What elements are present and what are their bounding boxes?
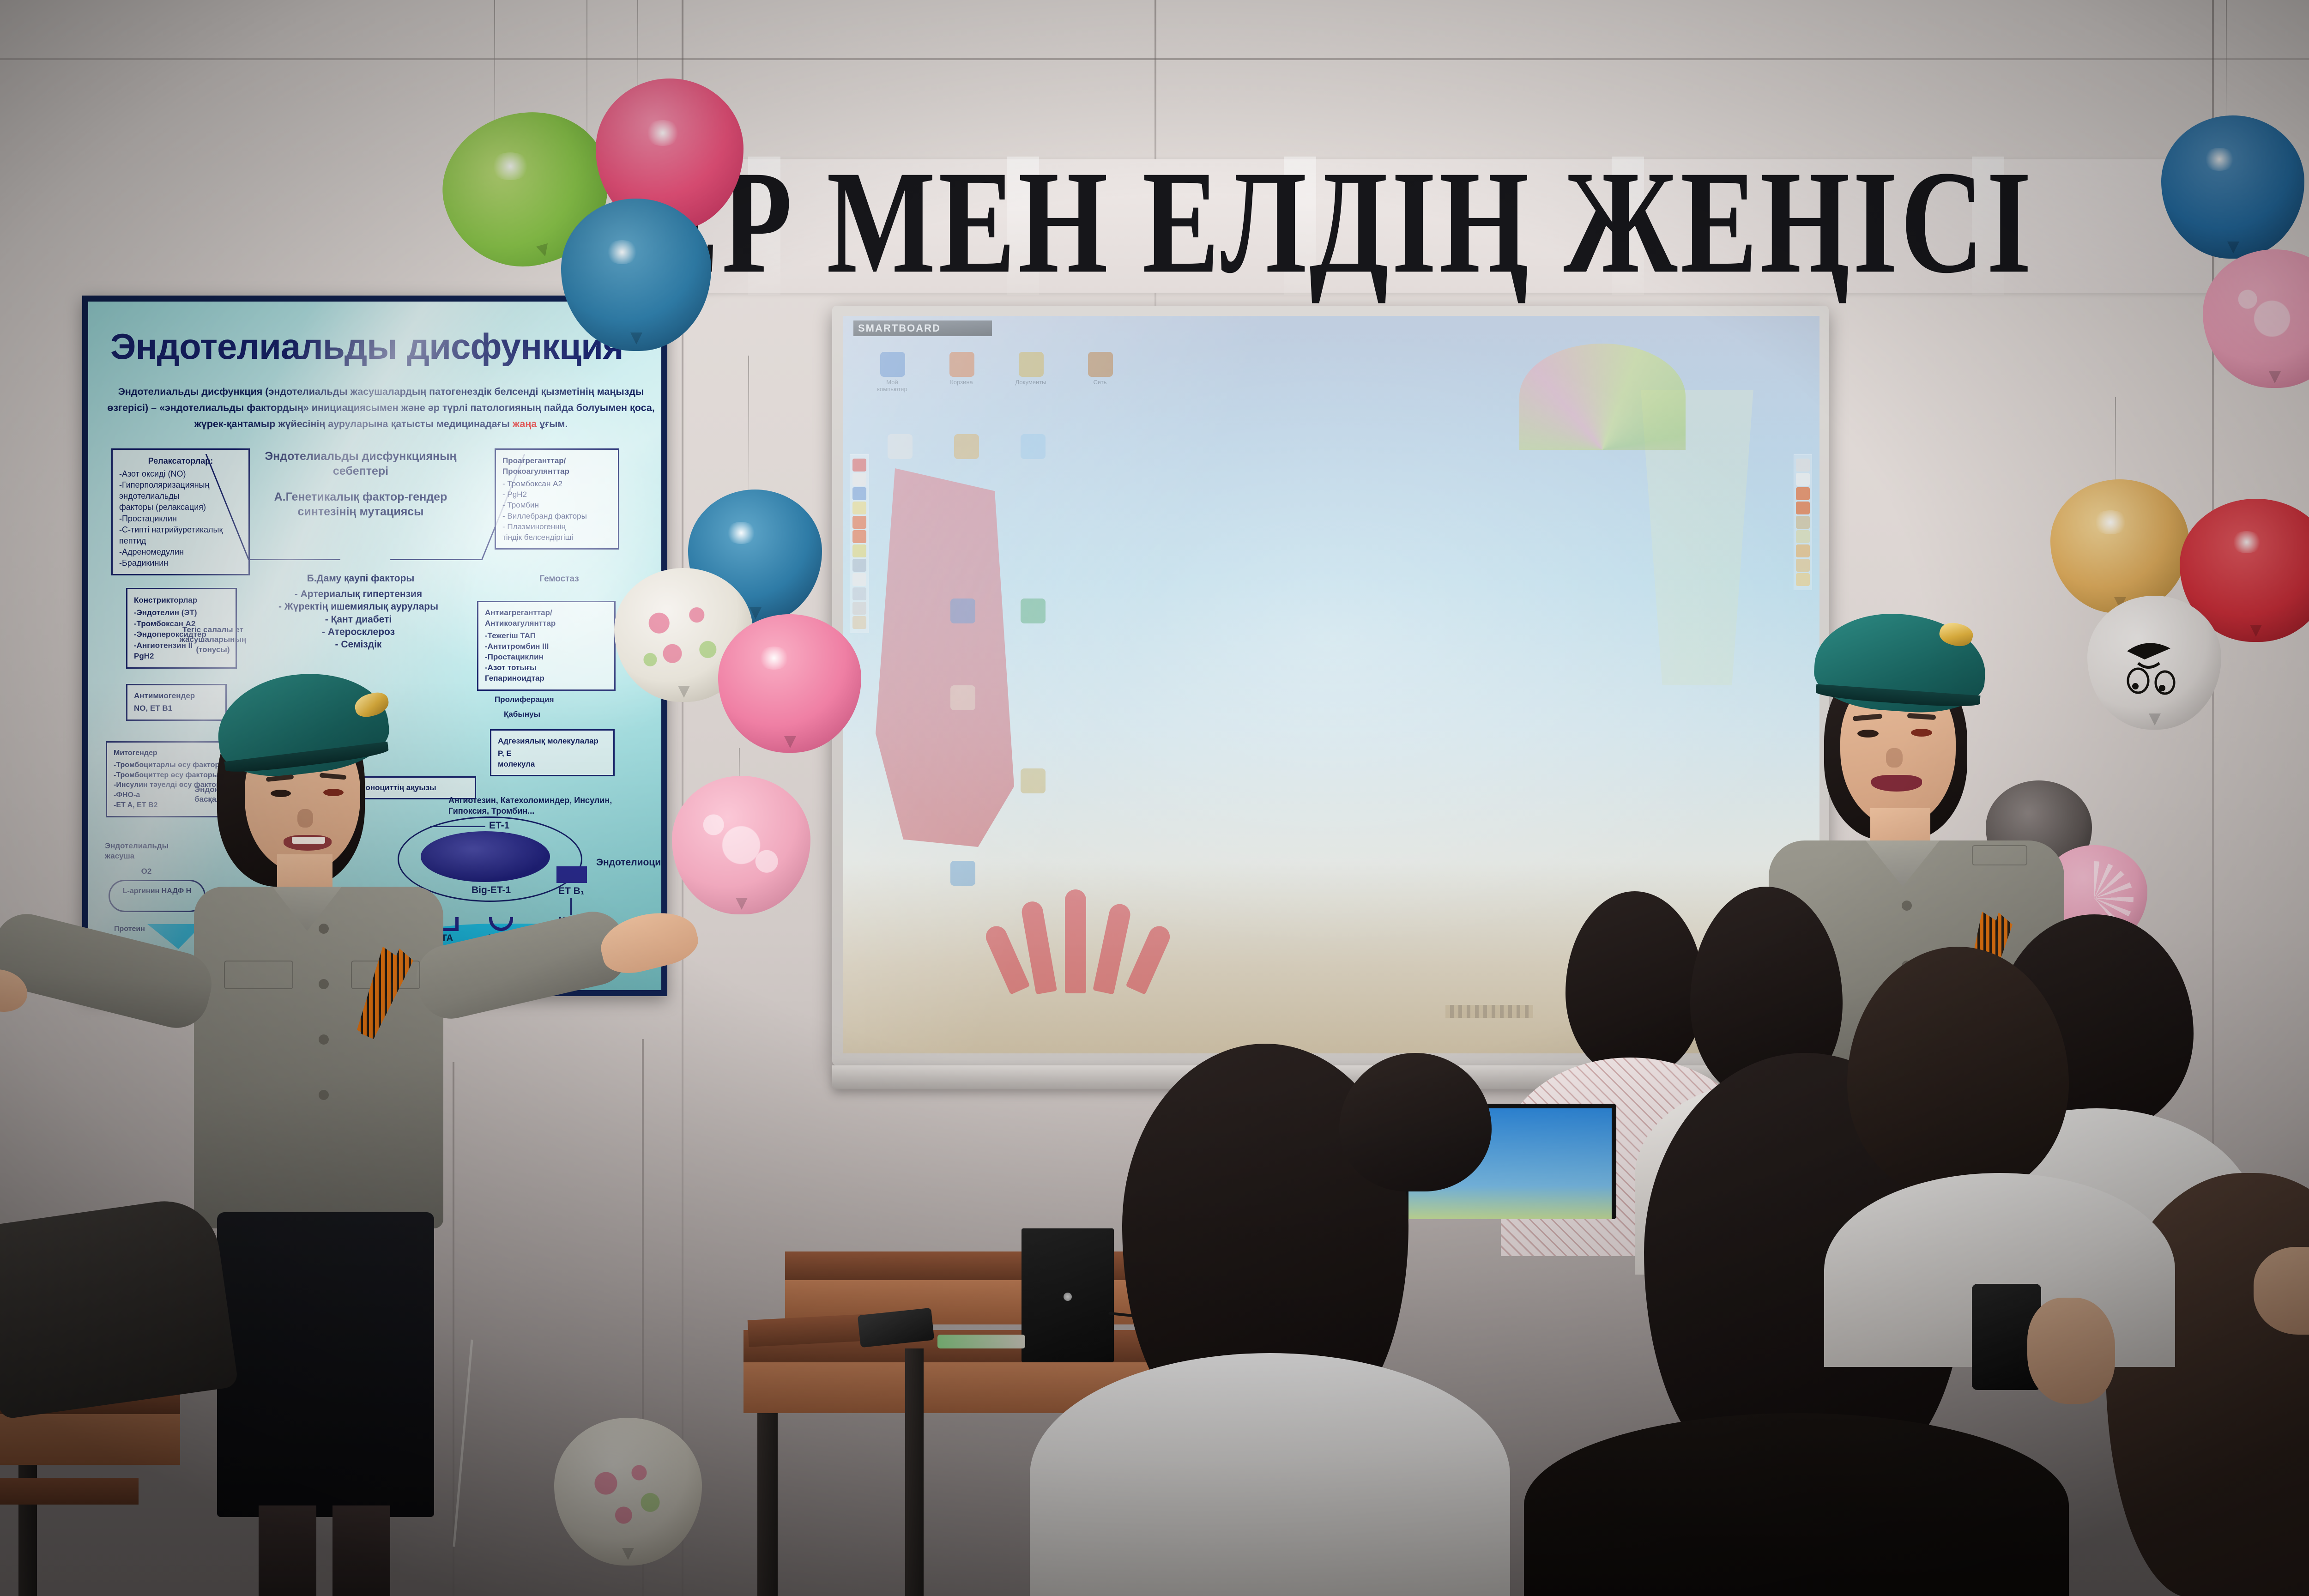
presenter-left-arm-left	[410, 905, 634, 1025]
whiteboard-right-toolbar[interactable]	[1794, 454, 1812, 590]
desktop-icon-label-3: Сеть	[1079, 379, 1121, 386]
poster-label-hemostasis: Гемостаз	[513, 574, 605, 584]
desktop-icon-7[interactable]	[950, 598, 975, 623]
audience-shoulder-5	[1524, 1413, 2069, 1596]
tool2-color-icon[interactable]	[1796, 544, 1810, 557]
tool-pen-icon[interactable]	[852, 459, 866, 472]
balloon-blue-top	[561, 199, 711, 351]
balloon-gold	[2050, 479, 2189, 613]
desktop-icon-3[interactable]	[1088, 352, 1113, 377]
desktop-icon-9[interactable]	[950, 685, 975, 710]
tool2-page-icon[interactable]	[1796, 473, 1810, 486]
tool-line-icon[interactable]	[852, 559, 866, 572]
poster-box-proaggregants: Проагреганттар/ Прокоагулянттар - Тромбо…	[495, 448, 619, 550]
tool-shape-icon[interactable]	[852, 502, 866, 514]
whiteboard-tray-strip	[1445, 1005, 1533, 1018]
audience-shoulder-4	[1030, 1353, 1510, 1596]
poster-intro: Эндотелиальды дисфункция (эндотелиальды …	[104, 384, 658, 432]
tool-text-icon[interactable]	[852, 573, 866, 586]
seated-person-left	[0, 1194, 239, 1420]
desktop-icon-label-1: Корзина	[940, 379, 983, 386]
desktop-icon-8[interactable]	[1021, 598, 1046, 623]
tool2-grid-icon[interactable]	[1796, 459, 1810, 472]
whiteboard-left-toolbar[interactable]	[850, 454, 869, 633]
desktop-icon-5[interactable]	[954, 434, 979, 459]
tool-arrow-right-icon[interactable]	[852, 530, 866, 543]
classroom-photo-scene: ЕР МЕН ЕЛДІҢ ЖЕҢІСІ Эндотелиальды дисфун…	[0, 0, 2309, 1596]
desk-left-stage-2	[0, 1478, 139, 1505]
tool-arrow-left-icon[interactable]	[852, 516, 866, 529]
desktop-icon-1[interactable]	[949, 352, 974, 377]
tool2-arrow-up-icon[interactable]	[1796, 487, 1810, 500]
balloon-pink-mid	[718, 614, 861, 753]
audience-hand-holding-phone	[2027, 1298, 2115, 1404]
tool2-brush-icon[interactable]	[1796, 530, 1810, 543]
banner-title: ЕР МЕН ЕЛДІҢ ЖЕҢІСІ	[642, 125, 2212, 320]
tool2-pencil-icon[interactable]	[1796, 516, 1810, 529]
presenter-left-hand	[595, 903, 702, 979]
desktop-icon-2[interactable]	[1019, 352, 1044, 377]
desktop-icon-6[interactable]	[1021, 434, 1046, 459]
presenter-left-legs	[259, 1505, 316, 1596]
tool2-stamp-icon[interactable]	[1796, 559, 1810, 572]
presenter-left-shirt	[194, 887, 443, 1228]
tool-eraser-icon[interactable]	[852, 473, 866, 486]
desktop-icon-4[interactable]	[888, 434, 913, 459]
desktop-icon-label-2: Документы	[1009, 379, 1052, 386]
tool-settings-icon[interactable]	[852, 602, 866, 615]
desktop-icon-11[interactable]	[950, 861, 975, 886]
speaker-box	[1022, 1228, 1114, 1362]
wall-banner: ЕР МЕН ЕЛДІҢ ЖЕҢІСІ	[642, 159, 2212, 293]
tool-camera-icon[interactable]	[852, 587, 866, 600]
cd-disc	[937, 1335, 1025, 1348]
tool2-arrow-down-icon[interactable]	[1796, 502, 1810, 514]
poster-title: Эндотелиальды дисфункция	[110, 326, 655, 368]
desktop-icon-0[interactable]	[880, 352, 905, 377]
desktop-icon-label-0: Мой компьютер	[871, 379, 913, 393]
smartboard-brand-label: SMARTBOARD	[853, 320, 992, 336]
desktop-icon-10[interactable]	[1021, 768, 1046, 793]
tool-select-icon[interactable]	[852, 487, 866, 500]
tool-more-icon[interactable]	[852, 616, 866, 629]
balloon-blue-right	[2161, 115, 2304, 259]
presenter-left-st-george-ribbon	[349, 943, 418, 1042]
presenter-left-skirt	[217, 1212, 434, 1517]
presenter-left-arm-right	[0, 907, 218, 1034]
poster-cause-b-heading: Б.Даму қаупі факторы	[273, 573, 448, 584]
tool-highlighter-icon[interactable]	[852, 544, 866, 557]
presenter-left-beret	[212, 664, 393, 783]
tool2-star-icon[interactable]	[1796, 573, 1810, 586]
